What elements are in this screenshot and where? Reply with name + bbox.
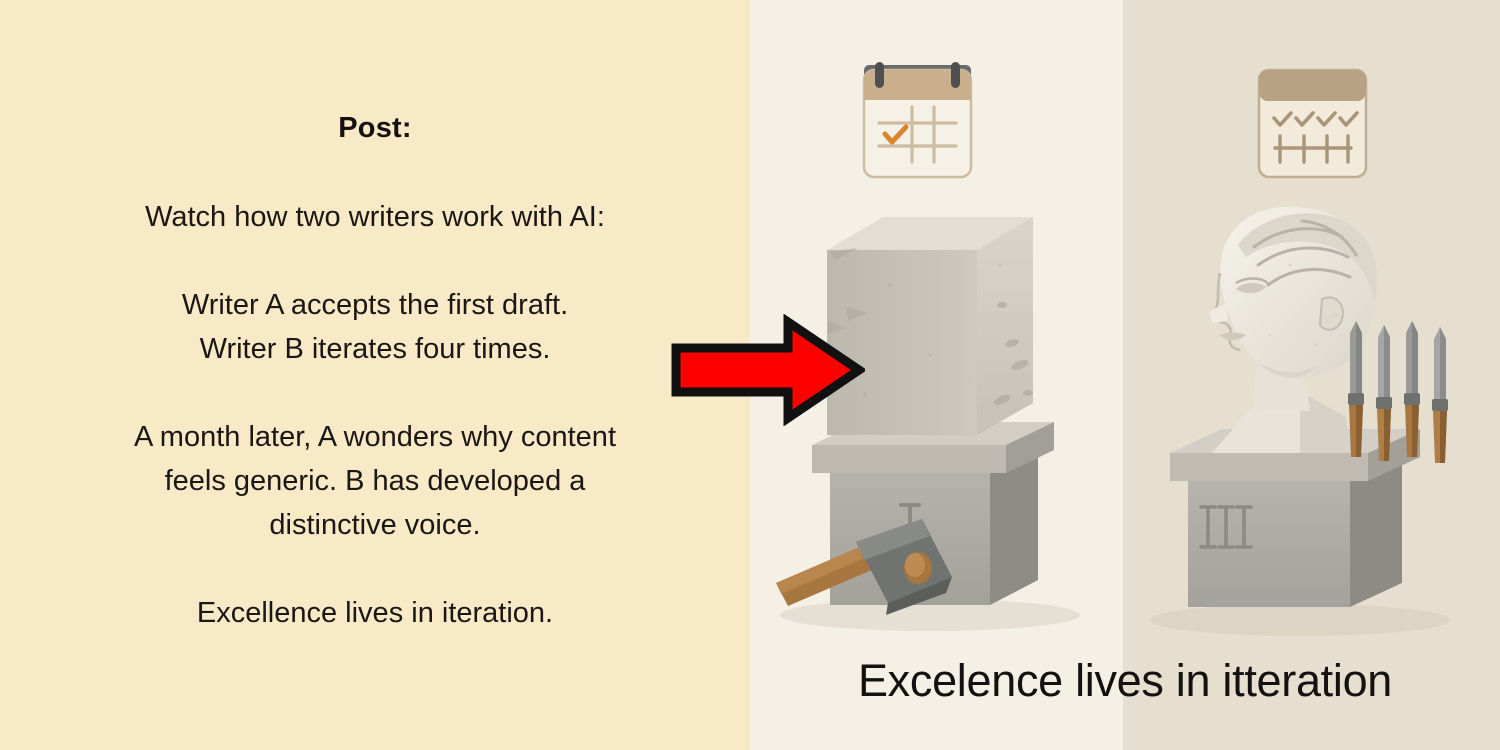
bottom-caption: Excelence lives in itteration	[750, 655, 1500, 707]
post-line-1: Watch how two writers work with AI:	[60, 195, 690, 239]
spacer-2	[60, 371, 690, 415]
post-body: Watch how two writers work with AI: Writ…	[60, 195, 690, 635]
calendar-four-checks-icon	[1250, 52, 1375, 187]
image-canvas: Post: Watch how two writers work with AI…	[0, 0, 1500, 750]
post-line-3: Writer B iterates four times.	[60, 327, 690, 371]
post-line-6: distinctive voice.	[60, 503, 690, 547]
post-line-4: A month later, A wonders why content	[60, 415, 690, 459]
carved-bust-scene	[1150, 195, 1495, 665]
post-line-7: Excellence lives in iteration.	[60, 591, 690, 635]
red-right-arrow-icon	[670, 314, 865, 426]
spacer-1	[60, 239, 690, 283]
post-heading: Post:	[338, 112, 412, 145]
post-line-5: feels generic. B has developed a	[60, 459, 690, 503]
calendar-one-check-icon	[855, 52, 980, 187]
post-line-2: Writer A accepts the first draft.	[60, 283, 690, 327]
uncarved-stone-scene	[770, 195, 1110, 665]
post-text-column: Post: Watch how two writers work with AI…	[0, 0, 750, 750]
spacer-3	[60, 547, 690, 591]
